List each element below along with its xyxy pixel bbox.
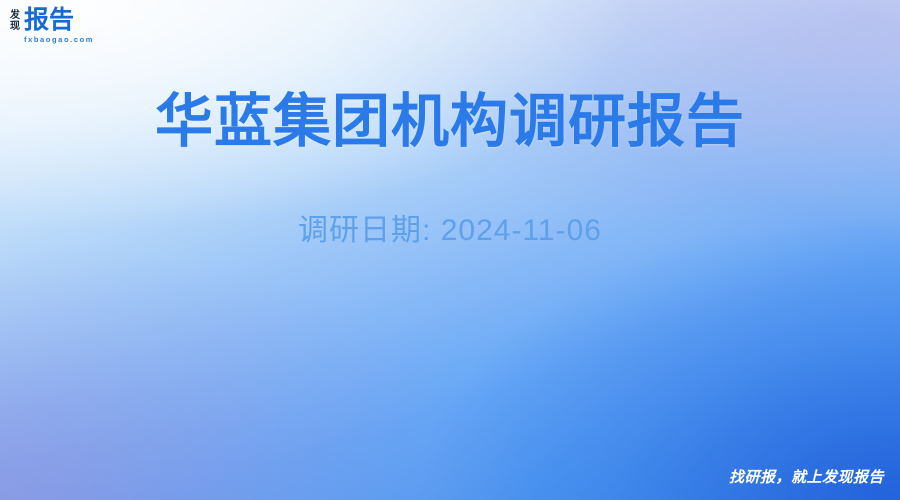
logo-mark-char-1: 发 <box>10 10 20 21</box>
logo-text-group: 报告 fxbaogao.com <box>24 8 94 44</box>
logo-wordmark: 报告 <box>24 8 74 33</box>
brand-logo[interactable]: 发 现 报告 fxbaogao.com <box>10 8 122 54</box>
logo-mark-icon: 发 现 <box>10 8 20 32</box>
survey-date-subtitle: 调研日期: 2024-11-06 <box>0 158 900 252</box>
logo-url: fxbaogao.com <box>24 35 94 44</box>
logo-mark-char-2: 现 <box>10 21 20 32</box>
page-title: 华蓝集团机构调研报告 <box>0 86 900 158</box>
footer-slogan: 找研报，就上发现报告 <box>729 468 884 488</box>
title-block: 华蓝集团机构调研报告 调研日期: 2024-11-06 <box>0 86 900 252</box>
report-cover-slide: 发 现 报告 fxbaogao.com 华蓝集团机构调研报告 调研日期: 202… <box>0 0 900 500</box>
